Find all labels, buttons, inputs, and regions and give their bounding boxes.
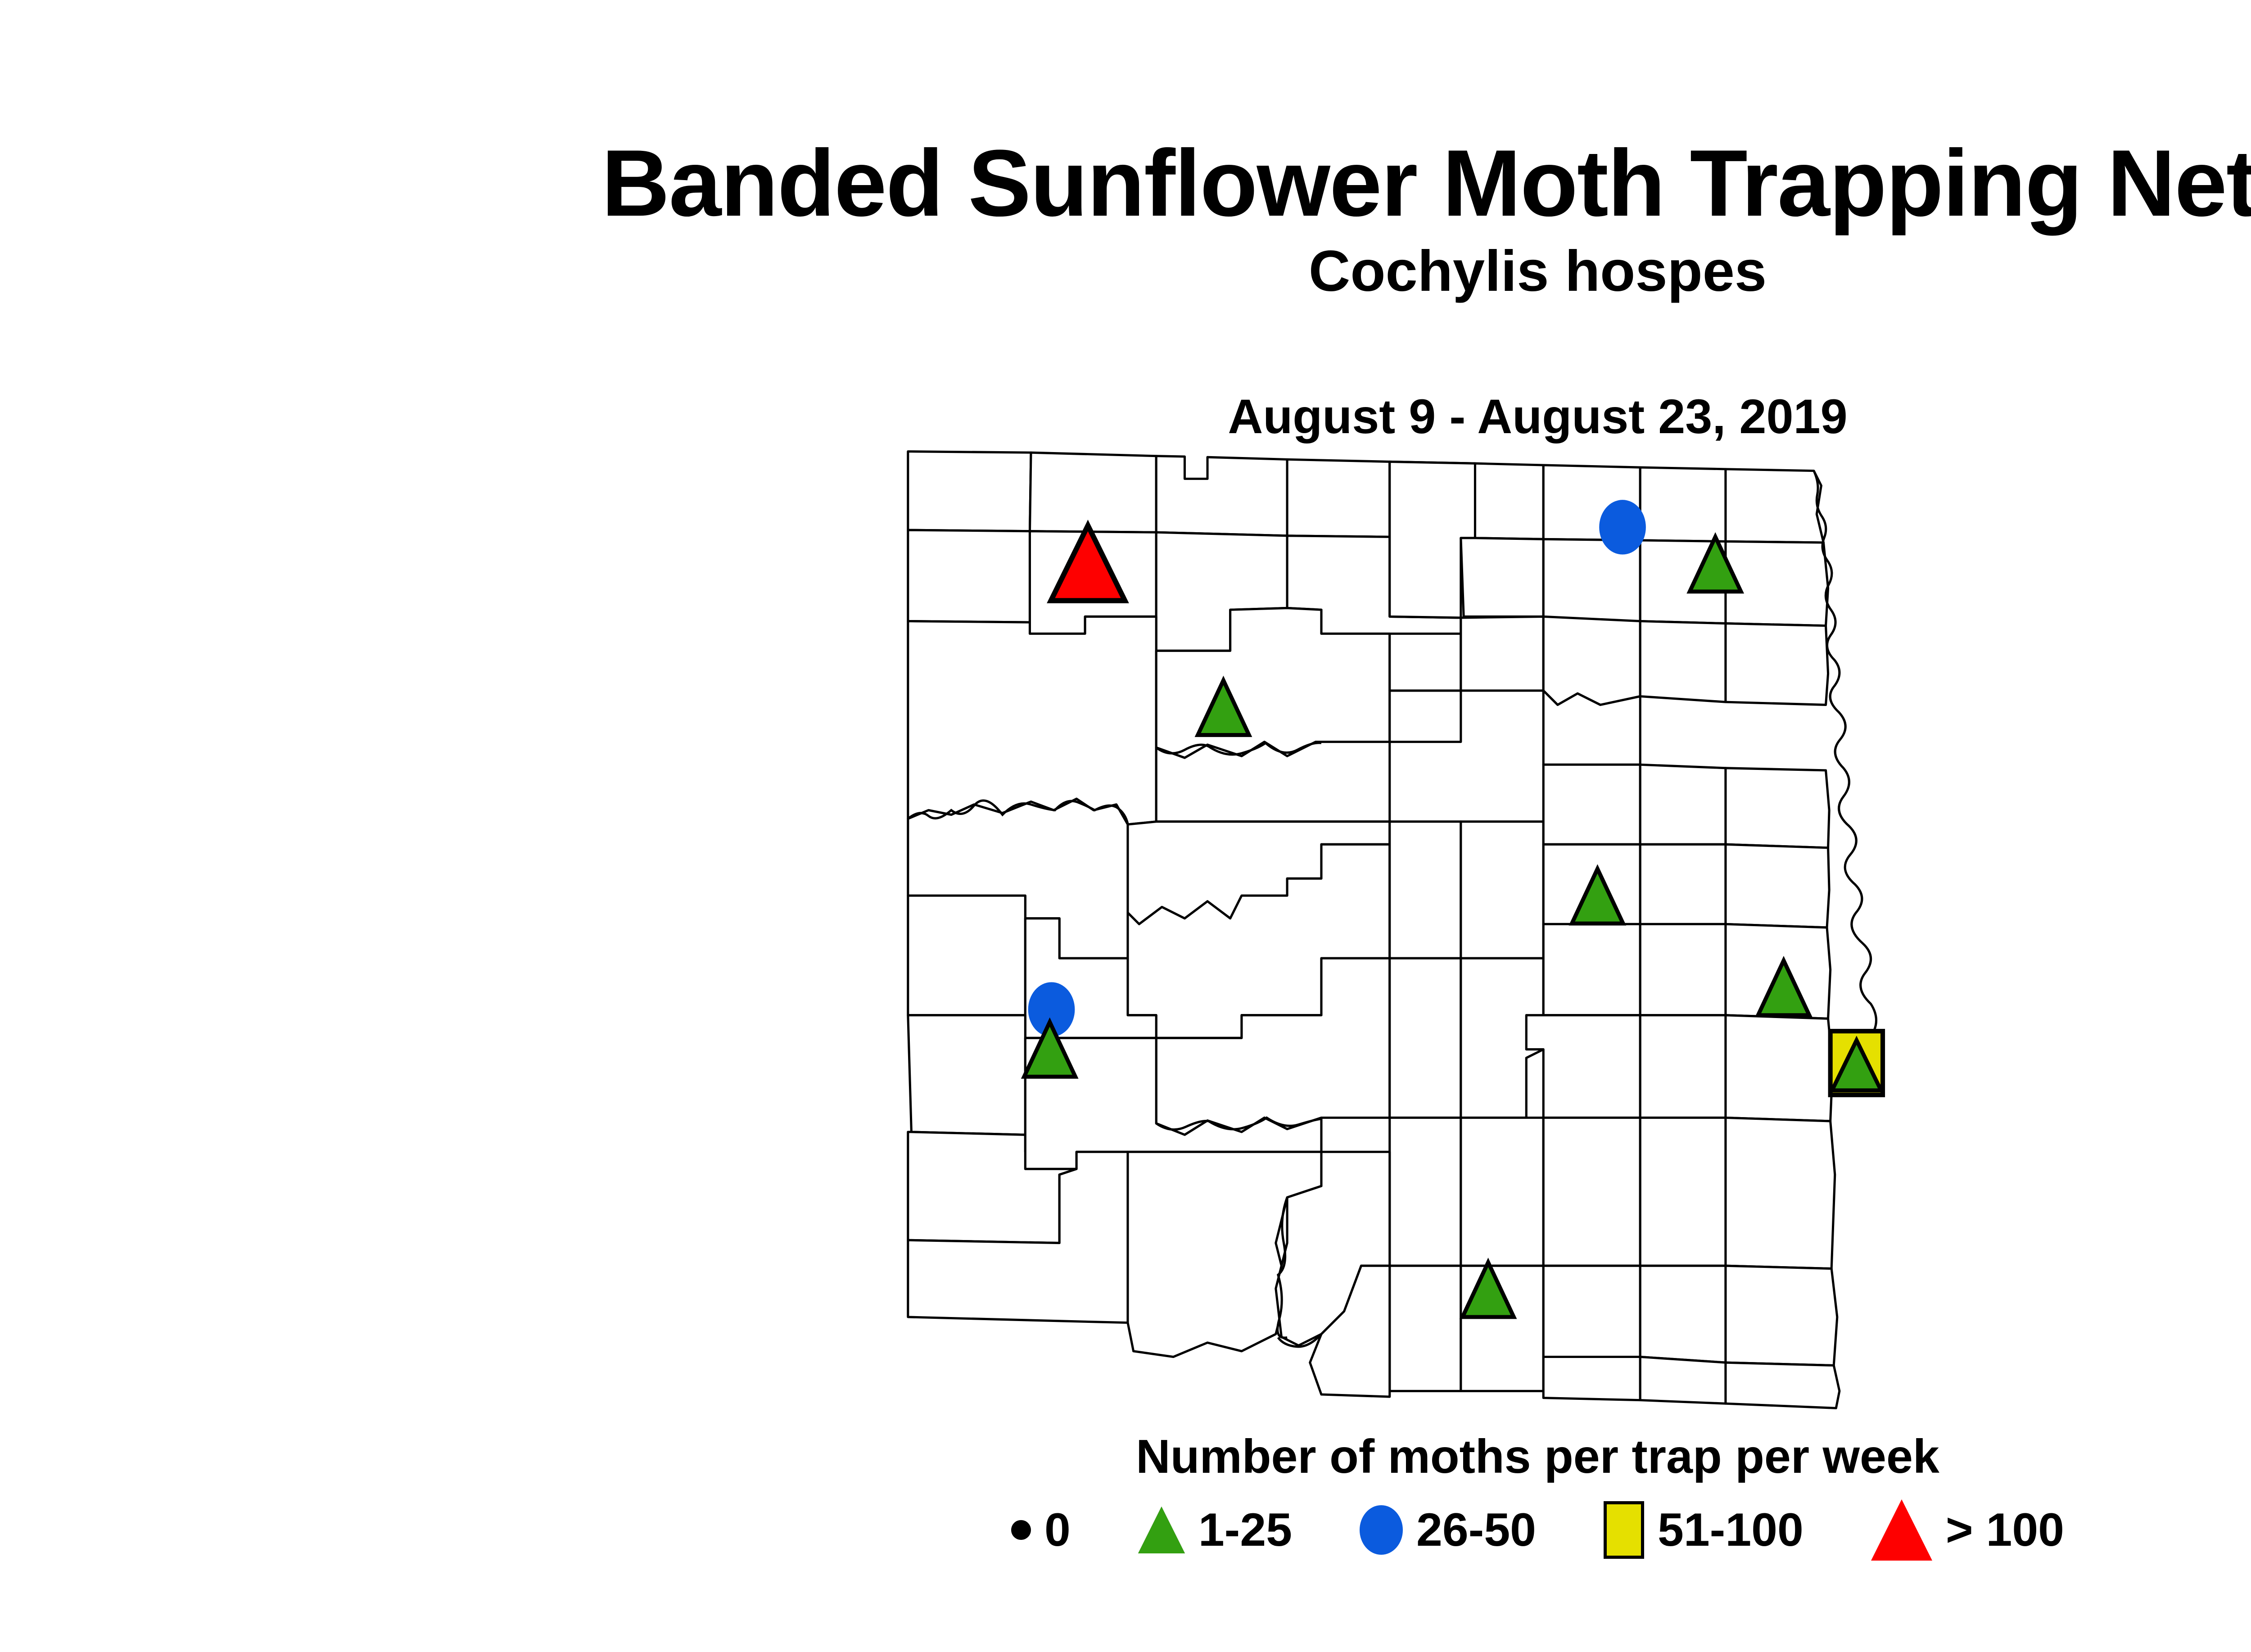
triangle-icon-red — [1871, 1499, 1932, 1561]
title-block: Banded Sunflower Moth Trapping Network C… — [0, 135, 2251, 302]
legend-item-26-50[interactable]: 26-50 — [1360, 1503, 1536, 1557]
circle-icon-blue — [1360, 1505, 1403, 1555]
legend-item-1-25[interactable]: 1-25 — [1138, 1503, 1292, 1557]
square-icon-yellow — [1604, 1501, 1644, 1559]
page-title: Banded Sunflower Moth Trapping Network — [0, 135, 2251, 231]
north-dakota-county-map[interactable] — [585, 446, 2251, 1414]
dot-icon — [1011, 1520, 1031, 1540]
legend-label-1-25: 1-25 — [1198, 1503, 1292, 1557]
poster-canvas: Banded Sunflower Moth Trapping Network C… — [0, 0, 2251, 1652]
legend-item-0[interactable]: 0 — [1011, 1503, 1071, 1557]
legend-label-0: 0 — [1044, 1503, 1071, 1557]
map-svg — [585, 446, 2251, 1414]
triangle-icon-green — [1138, 1507, 1185, 1553]
species-subtitle: Cochylis hospes — [0, 241, 2251, 302]
county-layer — [908, 452, 1840, 1408]
legend-item-gt-100[interactable]: > 100 — [1871, 1499, 2064, 1561]
legend-label-26-50: 26-50 — [1416, 1503, 1536, 1557]
legend: 0 1-25 26-50 51-100 > 100 — [0, 1499, 2251, 1561]
legend-label-gt-100: > 100 — [1946, 1503, 2064, 1557]
legend-title: Number of moths per trap per week — [0, 1430, 2251, 1484]
date-range-label: August 9 - August 23, 2019 — [0, 388, 2251, 444]
legend-label-51-100: 51-100 — [1658, 1503, 1804, 1557]
legend-item-51-100[interactable]: 51-100 — [1604, 1501, 1804, 1559]
marker-26-50-circle-north[interactable] — [1599, 500, 1646, 554]
